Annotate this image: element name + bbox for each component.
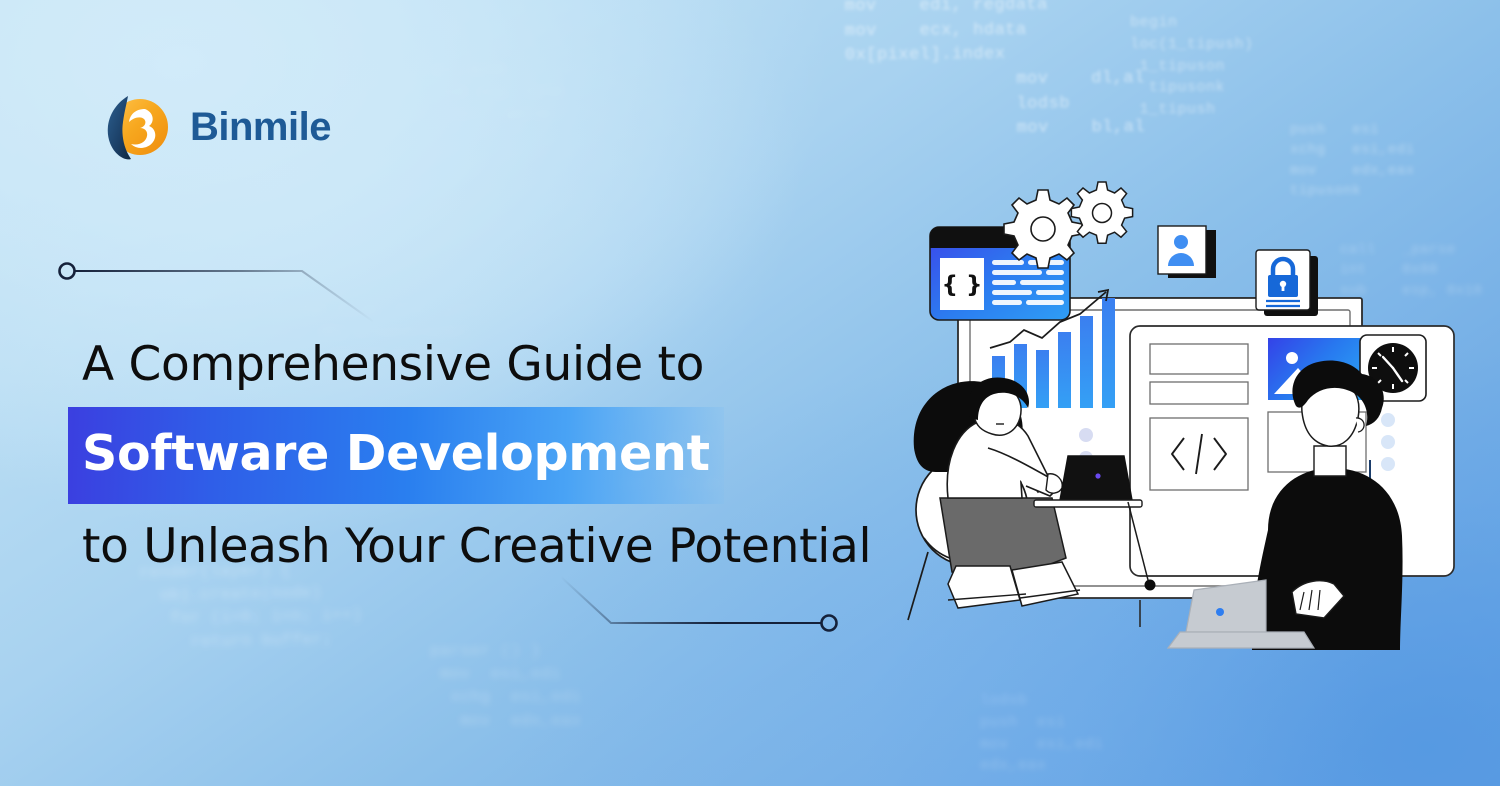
code-snippet: lodsb push esi mov esi,edi edx,eax [980, 690, 1104, 777]
headline-line-3: to Unleash Your Creative Potential [82, 504, 942, 589]
headline-highlight: Software Development [68, 407, 724, 504]
binmile-logo-icon [98, 89, 174, 165]
connector-endpoint-circle [822, 616, 837, 631]
banner-root: mov edi, regdata mov ecx, hdata 0x[pixel… [0, 0, 1500, 786]
software-development-illustration: { } [900, 180, 1480, 650]
code-snippet: mov edi, regdata mov ecx, hdata 0x[pixel… [844, 0, 1145, 143]
lock-icon-card [1256, 250, 1318, 316]
user-profile-card [1158, 226, 1216, 278]
headline-line-1: A Comprehensive Guide to [82, 322, 942, 407]
brand-logo[interactable]: Binmile [98, 89, 331, 165]
connector-line-bottom-right [555, 575, 855, 670]
gear-icon-small [1071, 182, 1132, 243]
code-snippet: begin loc(1_tipush) 1_tipuson tipusonk 1… [1130, 12, 1254, 121]
code-snippet: parser () } mov esi,edi xchg esi,edi mov… [430, 640, 582, 733]
code-snippet: int 0x80 sub esp, 0x18 call _parse [430, 60, 563, 125]
connector-endpoint-circle [60, 264, 75, 279]
svg-text:{ }: { } [942, 272, 983, 298]
headline: A Comprehensive Guide to Software Develo… [82, 322, 942, 589]
right-dots [1381, 413, 1395, 471]
brand-name: Binmile [190, 105, 331, 150]
gear-icon-large [1004, 190, 1082, 268]
